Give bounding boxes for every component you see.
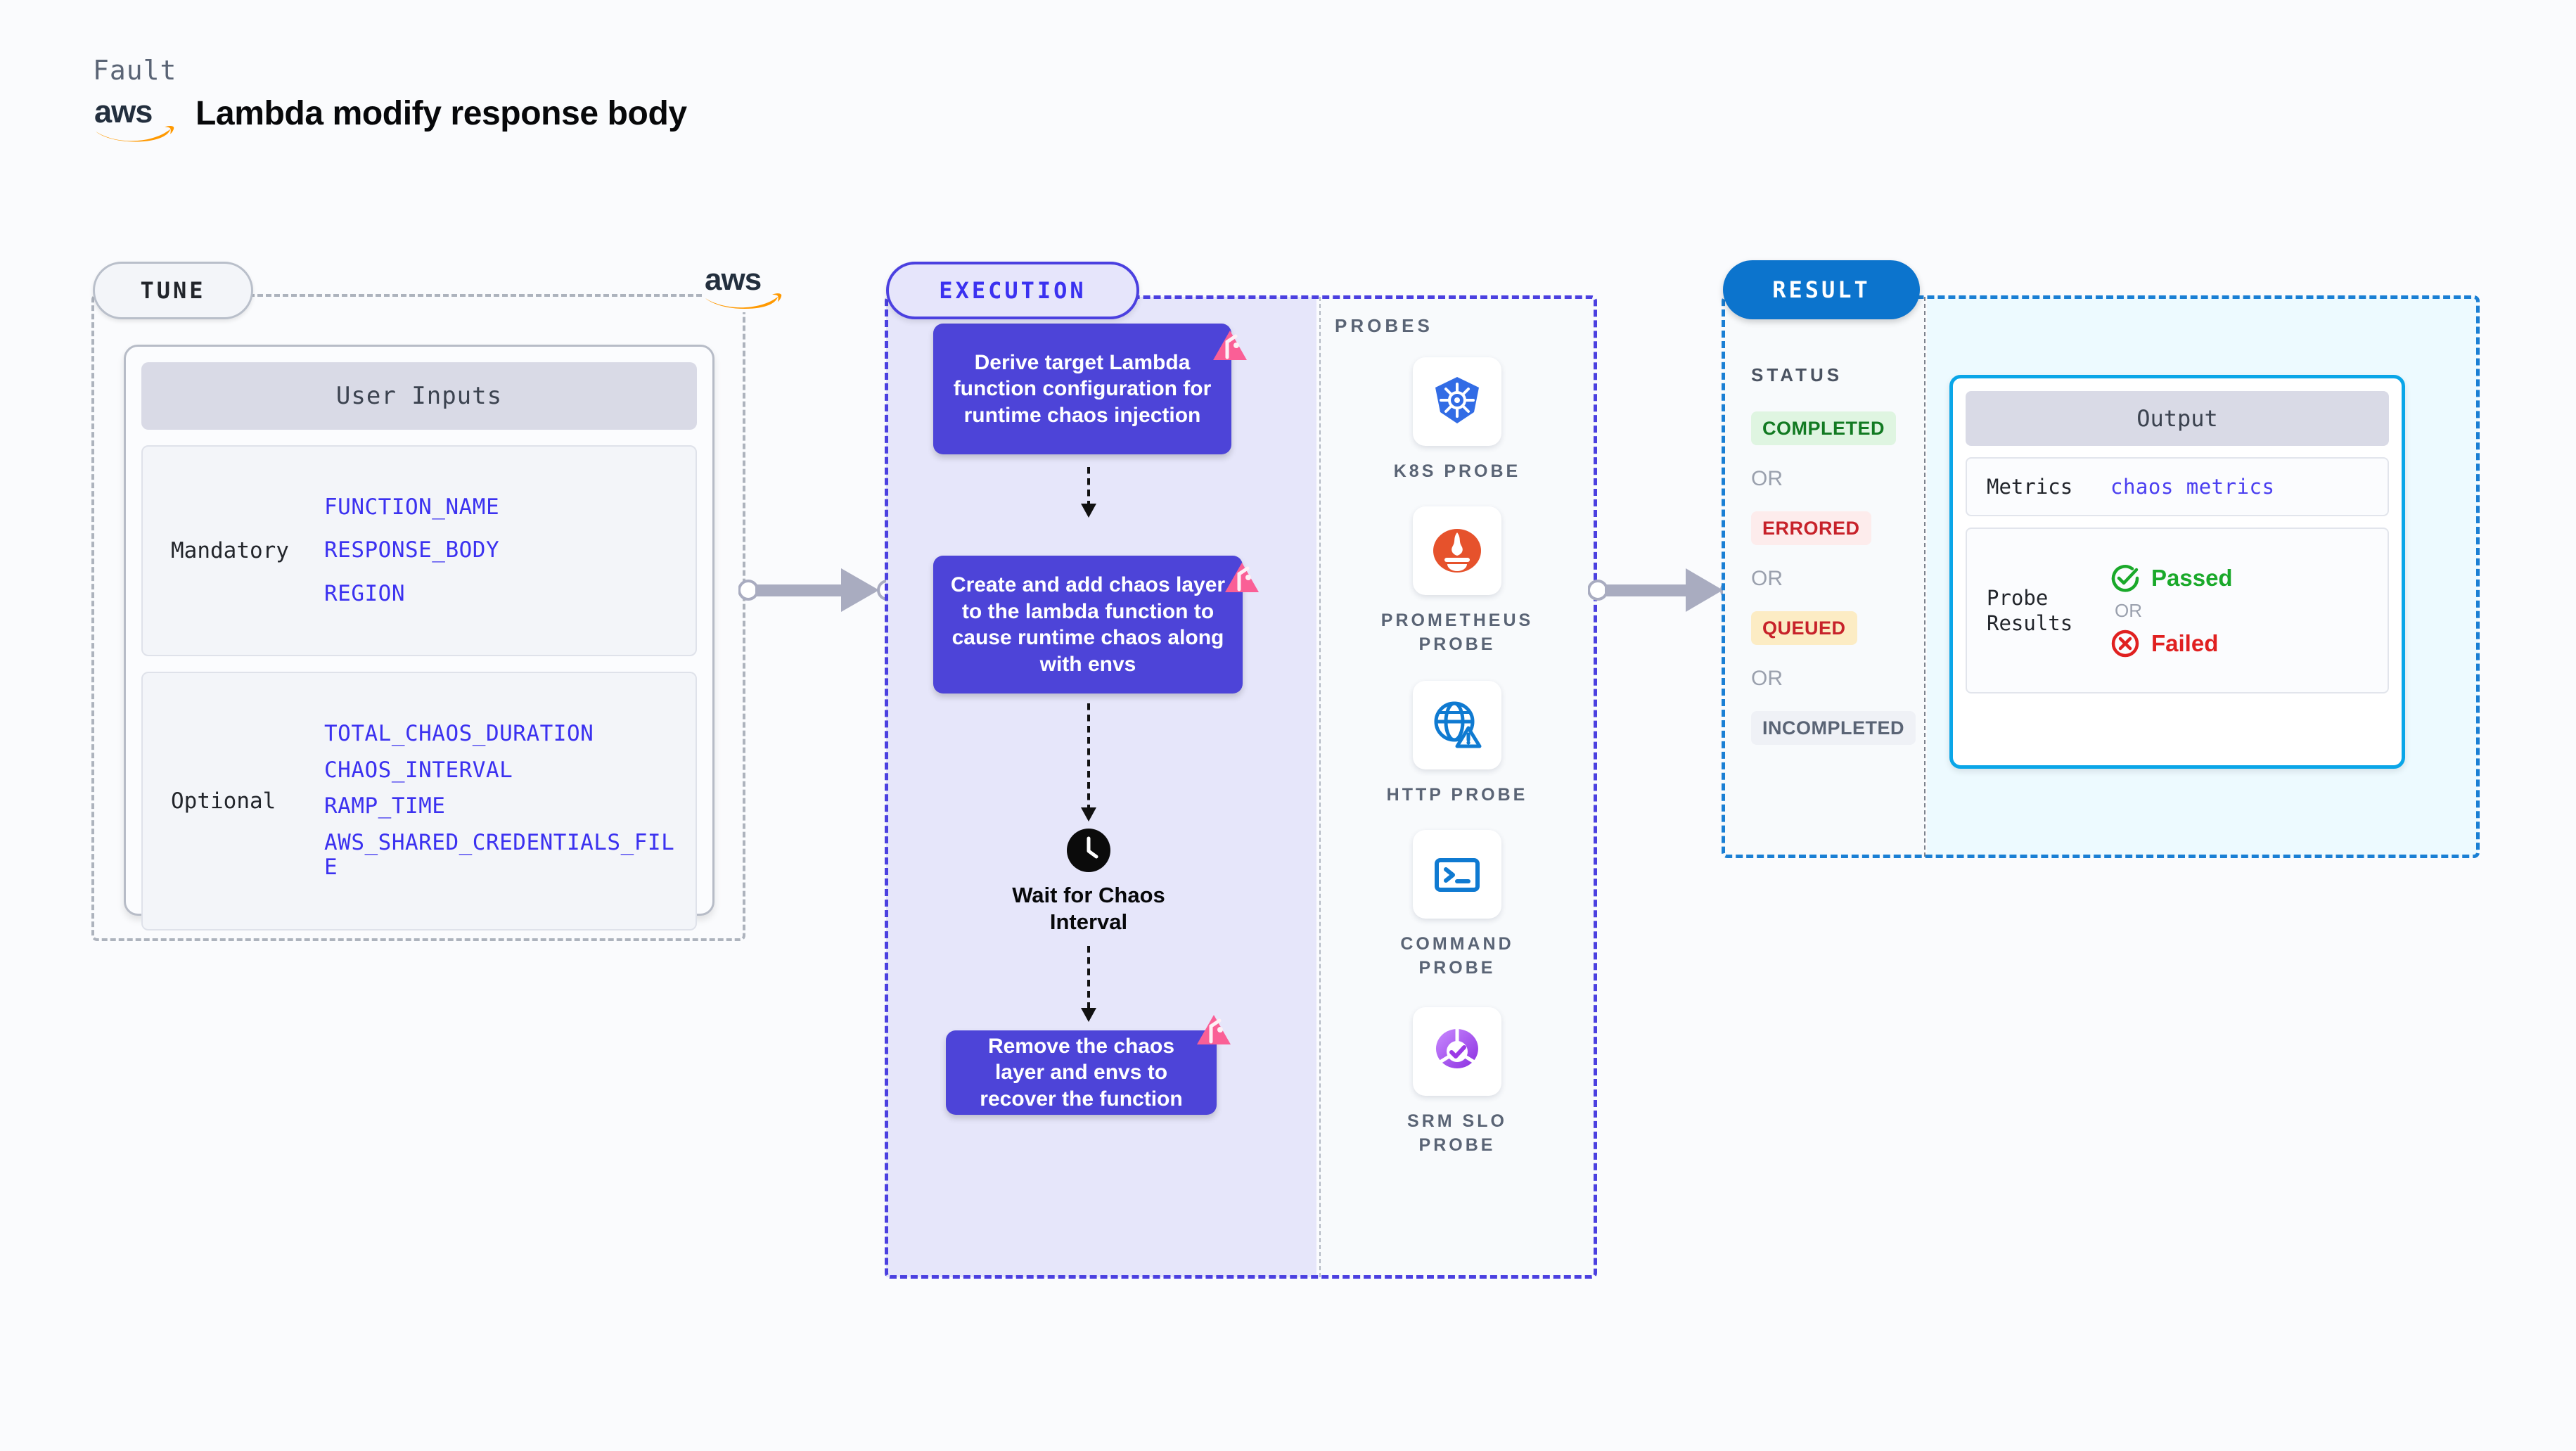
kubernetes-icon	[1413, 357, 1501, 446]
probe-result-or: OR	[2110, 600, 2233, 622]
probe-prometheus[interactable]: PROMETHEUS PROBE	[1373, 506, 1542, 657]
check-circle-icon	[2110, 563, 2140, 593]
diagram-canvas: Fault aws Lambda modify response body TU…	[0, 0, 2576, 1451]
probe-http-label: HTTP PROBE	[1387, 784, 1528, 807]
litmus-chaos-icon	[1196, 1014, 1232, 1046]
execution-step-3-text: Remove the chaos layer and envs to recov…	[963, 1033, 1200, 1113]
connector-tune-to-execution	[738, 563, 900, 618]
output-card: Output Metrics chaos metrics Probe Resul…	[1949, 375, 2405, 769]
tune-stage-pill: TUNE	[93, 262, 253, 319]
execution-stage-pill: EXECUTION	[886, 262, 1139, 319]
page-title: Lambda modify response body	[196, 94, 687, 133]
aws-logo-tune: aws	[703, 262, 782, 312]
status-badge-queued: QUEUED	[1751, 611, 1857, 645]
prometheus-icon	[1413, 506, 1501, 595]
mandatory-label: Mandatory	[155, 538, 324, 563]
param-region: REGION	[324, 582, 683, 607]
output-metrics-key: Metrics	[1977, 474, 2110, 499]
status-or-2: OR	[1751, 567, 1783, 591]
x-circle-icon	[2110, 629, 2140, 658]
optional-label: Optional	[155, 788, 324, 814]
output-probe-key: Probe Results	[1977, 585, 2110, 637]
execution-step-1: Derive target Lambda function configurat…	[933, 324, 1231, 454]
status-or-1: OR	[1751, 467, 1783, 491]
wait-label: Wait for Chaos Interval	[997, 882, 1180, 935]
execution-step-2: Create and add chaos layer to the lambda…	[933, 556, 1243, 693]
probe-srm-slo[interactable]: SRM SLO PROBE	[1373, 1007, 1542, 1158]
page-kicker: Fault	[93, 55, 177, 86]
svg-text:aws: aws	[705, 262, 761, 297]
param-chaos-interval: CHAOS_INTERVAL	[324, 758, 683, 784]
result-stage-pill: RESULT	[1723, 260, 1920, 319]
execution-arrow-2	[1087, 703, 1090, 822]
output-metrics-value: chaos metrics	[2110, 475, 2274, 499]
srm-slo-icon	[1413, 1007, 1501, 1096]
aws-logo: aws	[93, 93, 176, 145]
param-response-body: RESPONSE_BODY	[324, 538, 683, 563]
status-badge-incompleted: INCOMPLETED	[1751, 711, 1916, 745]
probe-srm-slo-label: SRM SLO PROBE	[1373, 1110, 1542, 1158]
param-ramp-time: RAMP_TIME	[324, 794, 683, 819]
param-aws-shared-credentials-file: AWS_SHARED_CREDENTIALS_FILE	[324, 831, 683, 881]
user-inputs-title: User Inputs	[141, 362, 697, 430]
probe-k8s-label: K8S PROBE	[1394, 460, 1520, 484]
status-badge-completed: COMPLETED	[1751, 411, 1896, 445]
execution-arrow-3	[1087, 946, 1090, 1022]
status-title: STATUS	[1751, 364, 1843, 386]
output-metrics-row: Metrics chaos metrics	[1966, 457, 2389, 516]
param-total-chaos-duration: TOTAL_CHAOS_DURATION	[324, 722, 683, 747]
probe-command-label: COMMAND PROBE	[1373, 933, 1542, 980]
probe-k8s[interactable]: K8S PROBE	[1373, 357, 1542, 484]
output-title: Output	[1966, 391, 2389, 446]
optional-params-group: Optional TOTAL_CHAOS_DURATION CHAOS_INTE…	[141, 672, 697, 931]
probe-result-passed: Passed	[2110, 563, 2233, 593]
probes-title: PROBES	[1335, 315, 1433, 337]
status-badge-errored: ERRORED	[1751, 511, 1871, 545]
execution-step-1-text: Derive target Lambda function configurat…	[950, 350, 1215, 429]
execution-step-2-text: Create and add chaos layer to the lambda…	[950, 572, 1226, 677]
connector-execution-to-result	[1588, 563, 1743, 618]
output-probe-results-row: Probe Results Passed OR Failed	[1966, 528, 2389, 693]
param-function-name: FUNCTION_NAME	[324, 495, 683, 520]
probe-http[interactable]: HTTP PROBE	[1373, 681, 1542, 807]
probe-result-failed: Failed	[2110, 629, 2233, 658]
execution-arrow-1	[1087, 467, 1090, 518]
user-inputs-card: User Inputs Mandatory FUNCTION_NAME RESP…	[124, 345, 715, 916]
http-globe-warning-icon	[1413, 681, 1501, 769]
terminal-icon	[1413, 830, 1501, 919]
litmus-chaos-icon	[1212, 329, 1248, 362]
failed-label: Failed	[2151, 630, 2218, 657]
clock-icon	[1067, 829, 1110, 872]
status-or-3: OR	[1751, 667, 1783, 691]
passed-label: Passed	[2151, 565, 2233, 592]
mandatory-params-group: Mandatory FUNCTION_NAME RESPONSE_BODY RE…	[141, 445, 697, 656]
wait-for-chaos-interval: Wait for Chaos Interval	[997, 829, 1180, 935]
probe-prometheus-label: PROMETHEUS PROBE	[1373, 609, 1542, 657]
litmus-chaos-icon	[1224, 561, 1260, 594]
svg-text:aws: aws	[94, 94, 153, 129]
probe-command[interactable]: COMMAND PROBE	[1373, 830, 1542, 980]
execution-step-3: Remove the chaos layer and envs to recov…	[946, 1030, 1217, 1115]
